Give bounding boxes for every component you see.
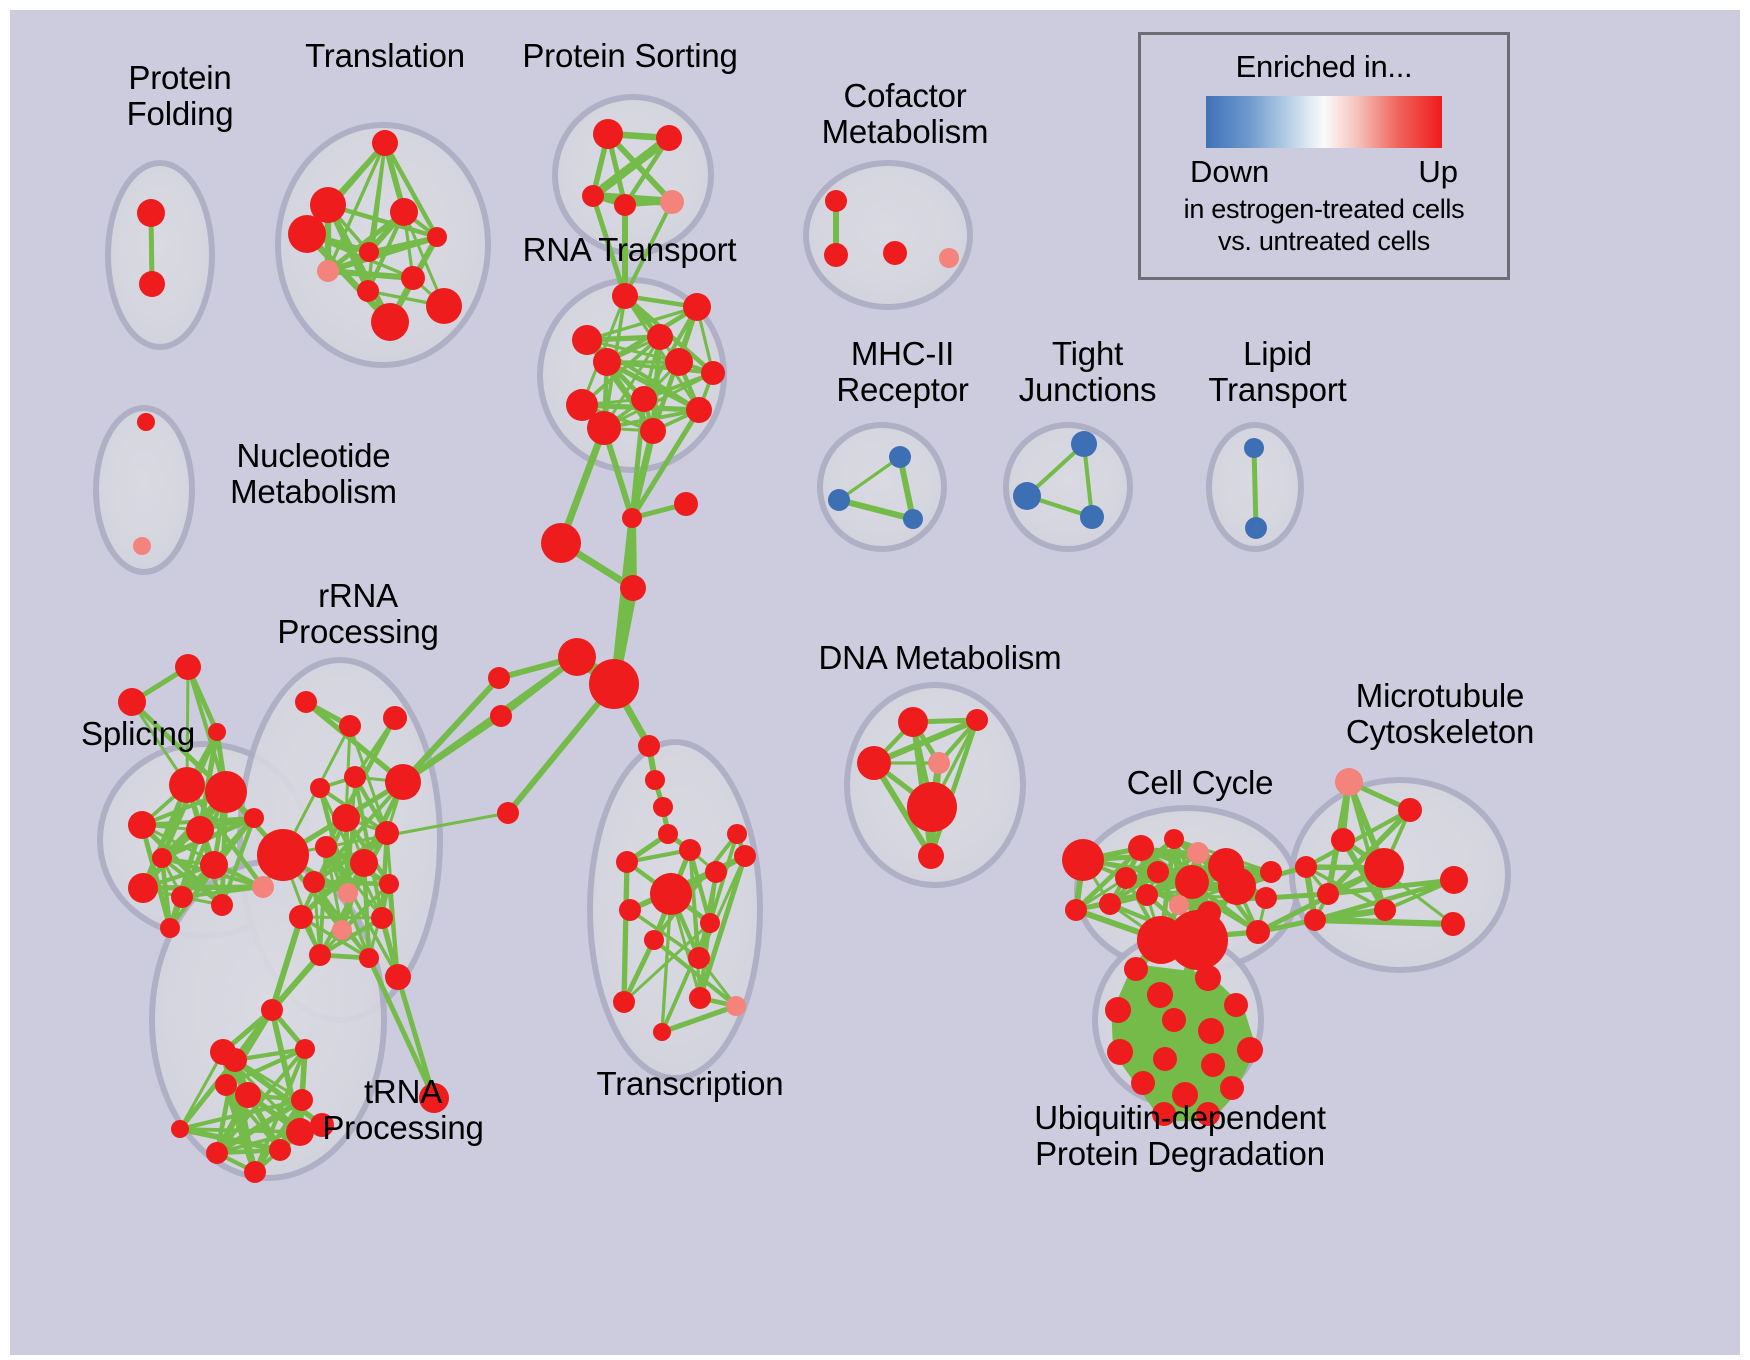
node-bridge[interactable] <box>674 492 698 516</box>
cluster-label-nucleotide-metabolism: Nucleotide Metabolism <box>206 438 421 509</box>
node-bridge[interactable] <box>558 638 596 676</box>
node-splicing[interactable] <box>128 873 158 903</box>
node-rrna-processing[interactable] <box>383 706 407 730</box>
node-bridge[interactable] <box>589 659 639 709</box>
node-translation[interactable] <box>401 266 425 290</box>
node-transcription[interactable] <box>644 930 664 950</box>
cluster-label-splicing: Splicing <box>58 716 218 752</box>
node-transcription[interactable] <box>734 845 756 867</box>
node-bridge[interactable] <box>490 705 512 727</box>
node-ubiquitin-protein-degradation[interactable] <box>1105 997 1131 1023</box>
node-protein-sorting[interactable] <box>660 190 684 214</box>
node-rrna-processing[interactable] <box>350 849 378 877</box>
node-trna-processing[interactable] <box>261 999 283 1021</box>
node-transcription[interactable] <box>619 899 641 921</box>
node-splicing[interactable] <box>160 918 180 938</box>
node-mhc-ii-receptor[interactable] <box>903 509 923 529</box>
node-microtubule-cytoskeleton[interactable] <box>1304 909 1326 931</box>
node-dna-metabolism[interactable] <box>907 782 957 832</box>
node-mhc-ii-receptor[interactable] <box>889 446 911 468</box>
node-rrna-processing[interactable] <box>332 920 352 940</box>
node-rrna-processing[interactable] <box>339 715 361 737</box>
node-ubiquitin-protein-degradation[interactable] <box>1162 1008 1186 1032</box>
cluster-ellipse-protein-folding[interactable] <box>108 163 212 347</box>
node-nucleotide-metabolism[interactable] <box>137 413 155 431</box>
node-splicing[interactable] <box>118 688 146 716</box>
node-tight-junctions[interactable] <box>1013 482 1041 510</box>
node-translation[interactable] <box>317 260 339 282</box>
node-bridge[interactable] <box>620 575 646 601</box>
node-microtubule-cytoskeleton[interactable] <box>1335 768 1363 796</box>
node-dna-metabolism[interactable] <box>857 746 891 780</box>
node-protein-sorting[interactable] <box>582 185 604 207</box>
node-transcription[interactable] <box>616 851 638 873</box>
node-trna-processing[interactable] <box>269 1139 291 1161</box>
node-rna-transport[interactable] <box>612 283 638 309</box>
node-splicing[interactable] <box>211 894 233 916</box>
node-rrna-processing[interactable] <box>344 766 366 788</box>
node-bridge[interactable] <box>497 802 519 824</box>
node-ubiquitin-protein-degradation[interactable] <box>1147 982 1173 1008</box>
node-bridge[interactable] <box>622 508 642 528</box>
node-cell-cycle[interactable] <box>1218 867 1256 905</box>
node-rrna-processing[interactable] <box>295 691 317 713</box>
node-microtubule-cytoskeleton[interactable] <box>1364 848 1404 888</box>
network-canvas: Protein FoldingTranslationProtein Sortin… <box>10 10 1740 1355</box>
node-microtubule-cytoskeleton[interactable] <box>1440 866 1468 894</box>
node-rna-transport[interactable] <box>686 397 712 423</box>
node-splicing[interactable] <box>200 851 228 879</box>
node-rrna-processing[interactable] <box>309 944 331 966</box>
node-rrna-processing[interactable] <box>359 948 379 968</box>
node-lipid-transport[interactable] <box>1245 517 1267 539</box>
node-mhc-ii-receptor[interactable] <box>828 489 850 511</box>
node-bridge[interactable] <box>658 824 678 844</box>
node-translation[interactable] <box>426 288 462 324</box>
node-ubiquitin-protein-degradation[interactable] <box>1107 1039 1133 1065</box>
node-cofactor-metabolism[interactable] <box>824 243 848 267</box>
node-cell-cycle[interactable] <box>1136 884 1158 906</box>
node-cell-cycle[interactable] <box>1175 865 1209 899</box>
node-ubiquitin-protein-degradation[interactable] <box>1124 957 1148 981</box>
node-rna-transport[interactable] <box>587 411 621 445</box>
edge-lipid-transport <box>1254 448 1256 528</box>
node-protein-sorting[interactable] <box>656 125 682 151</box>
node-splicing[interactable] <box>244 808 264 828</box>
cluster-ellipse-cofactor-metabolism[interactable] <box>806 163 970 307</box>
node-splicing[interactable] <box>171 886 193 908</box>
legend-high-label: Up <box>1418 154 1458 190</box>
node-rna-transport[interactable] <box>683 293 711 321</box>
node-transcription[interactable] <box>726 996 746 1016</box>
node-tight-junctions[interactable] <box>1080 505 1104 529</box>
node-microtubule-cytoskeleton[interactable] <box>1398 798 1422 822</box>
node-cofactor-metabolism[interactable] <box>825 190 847 212</box>
node-rrna-processing[interactable] <box>379 874 399 894</box>
node-cofactor-metabolism[interactable] <box>883 241 907 265</box>
node-rna-transport[interactable] <box>640 418 666 444</box>
node-rna-transport[interactable] <box>631 386 657 412</box>
node-microtubule-cytoskeleton[interactable] <box>1317 883 1339 905</box>
node-transcription[interactable] <box>689 987 711 1009</box>
node-ubiquitin-protein-degradation[interactable] <box>1198 1018 1224 1044</box>
node-rrna-processing[interactable] <box>385 764 421 800</box>
node-transcription[interactable] <box>688 947 710 969</box>
node-cell-cycle[interactable] <box>1164 829 1184 849</box>
node-protein-sorting[interactable] <box>614 194 636 216</box>
node-cell-cycle[interactable] <box>1137 916 1185 964</box>
node-cell-cycle[interactable] <box>1065 899 1087 921</box>
node-translation[interactable] <box>288 215 326 253</box>
node-tight-junctions[interactable] <box>1071 431 1097 457</box>
cluster-label-protein-folding: Protein Folding <box>85 60 275 131</box>
cluster-label-protein-sorting: Protein Sorting <box>500 38 760 74</box>
cluster-label-ubiquitin-protein-degradation: Ubiquitin-dependent Protein Degradation <box>985 1100 1375 1171</box>
edge-inter-25 <box>508 684 614 813</box>
node-microtubule-cytoskeleton[interactable] <box>1374 899 1396 921</box>
node-dna-metabolism[interactable] <box>928 752 950 774</box>
node-dna-metabolism[interactable] <box>918 843 944 869</box>
cluster-label-cofactor-metabolism: Cofactor Metabolism <box>800 78 1010 149</box>
node-transcription[interactable] <box>679 839 701 861</box>
node-trna-processing[interactable] <box>210 1039 236 1065</box>
node-splicing[interactable] <box>128 811 156 839</box>
node-transcription[interactable] <box>653 1023 671 1041</box>
node-bridge[interactable] <box>653 797 673 817</box>
node-cell-cycle[interactable] <box>1169 895 1189 915</box>
node-nucleotide-metabolism[interactable] <box>133 537 151 555</box>
node-transcription[interactable] <box>613 991 635 1013</box>
figure-stage: Protein FoldingTranslationProtein Sortin… <box>0 0 1750 1360</box>
cluster-label-cell-cycle: Cell Cycle <box>1105 765 1295 801</box>
cluster-label-mhc-ii-receptor: MHC-II Receptor <box>810 336 995 407</box>
node-cell-cycle[interactable] <box>1260 861 1282 883</box>
node-splicing[interactable] <box>175 654 201 680</box>
node-microtubule-cytoskeleton[interactable] <box>1295 856 1317 878</box>
node-trna-processing[interactable] <box>295 1039 315 1059</box>
node-protein-folding[interactable] <box>139 271 165 297</box>
legend-title: Enriched in... <box>1236 49 1413 85</box>
node-translation[interactable] <box>372 130 398 156</box>
cluster-label-rrna-processing: rRNA Processing <box>258 578 458 649</box>
node-translation[interactable] <box>390 198 418 226</box>
node-cell-cycle[interactable] <box>1128 835 1154 861</box>
node-splicing[interactable] <box>152 848 172 868</box>
node-trna-processing[interactable] <box>235 1082 261 1108</box>
node-rrna-processing[interactable] <box>289 905 313 929</box>
node-translation[interactable] <box>357 280 379 302</box>
node-transcription[interactable] <box>705 861 727 883</box>
node-rrna-processing[interactable] <box>310 778 330 798</box>
node-translation[interactable] <box>371 303 409 341</box>
node-rrna-processing[interactable] <box>385 964 411 990</box>
node-rna-transport[interactable] <box>572 325 602 355</box>
cluster-label-microtubule-cytoskeleton: Microtubule Cytoskeleton <box>1310 678 1570 749</box>
node-cell-cycle[interactable] <box>1062 839 1104 881</box>
node-cell-cycle[interactable] <box>1255 887 1277 909</box>
cluster-label-translation: Translation <box>285 38 485 74</box>
node-transcription[interactable] <box>700 913 720 933</box>
node-lipid-transport[interactable] <box>1244 438 1264 458</box>
legend-endpoints: Down Up <box>1190 154 1458 190</box>
legend-caption-line1: in estrogen-treated cells <box>1184 194 1465 225</box>
node-rna-transport[interactable] <box>701 361 725 385</box>
edge-transcription <box>624 862 627 1002</box>
node-dna-metabolism[interactable] <box>898 707 928 737</box>
legend-colorbar <box>1206 96 1442 148</box>
node-ubiquitin-protein-degradation[interactable] <box>1195 965 1221 991</box>
node-ubiquitin-protein-degradation[interactable] <box>1153 1047 1177 1071</box>
node-ubiquitin-protein-degradation[interactable] <box>1237 1037 1263 1063</box>
edge-rrna-processing <box>301 917 382 918</box>
node-cell-cycle[interactable] <box>1115 867 1137 889</box>
node-splicing[interactable] <box>252 876 274 898</box>
node-splicing[interactable] <box>205 771 247 813</box>
node-splicing[interactable] <box>186 816 214 844</box>
node-bridge[interactable] <box>638 735 660 757</box>
node-bridge[interactable] <box>645 770 665 790</box>
node-ubiquitin-protein-degradation[interactable] <box>1220 1076 1244 1100</box>
node-rna-transport[interactable] <box>647 324 673 350</box>
node-trna-processing[interactable] <box>215 1074 237 1096</box>
node-rrna-processing[interactable] <box>303 871 325 893</box>
node-protein-folding[interactable] <box>137 199 165 227</box>
node-splicing[interactable] <box>169 767 205 803</box>
node-ubiquitin-protein-degradation[interactable] <box>1131 1071 1155 1095</box>
node-rna-transport[interactable] <box>593 348 621 376</box>
node-rrna-processing[interactable] <box>315 836 337 858</box>
node-microtubule-cytoskeleton[interactable] <box>1441 912 1465 936</box>
node-cell-cycle[interactable] <box>1147 861 1169 883</box>
cluster-ellipse-mhc-ii-receptor[interactable] <box>820 425 944 549</box>
node-rrna-processing[interactable] <box>332 804 360 832</box>
node-rrna-processing[interactable] <box>371 907 393 929</box>
node-bridge[interactable] <box>488 667 510 689</box>
node-dna-metabolism[interactable] <box>966 709 988 731</box>
node-transcription[interactable] <box>727 824 747 844</box>
cluster-label-trna-processing: tRNA Processing <box>308 1074 498 1145</box>
node-cell-cycle[interactable] <box>1187 842 1209 864</box>
node-cofactor-metabolism[interactable] <box>939 248 959 268</box>
node-trna-processing[interactable] <box>244 1161 266 1183</box>
cluster-label-rna-transport: RNA Transport <box>502 232 757 268</box>
node-ubiquitin-protein-degradation[interactable] <box>1201 1053 1225 1077</box>
legend-caption-line2: vs. untreated cells <box>1218 226 1430 257</box>
node-microtubule-cytoskeleton[interactable] <box>1331 828 1355 852</box>
node-cell-cycle[interactable] <box>1246 920 1270 944</box>
cluster-label-transcription: Transcription <box>575 1066 805 1102</box>
node-protein-sorting[interactable] <box>593 119 623 149</box>
node-rrna-processing[interactable] <box>338 883 358 903</box>
node-rrna-processing[interactable] <box>257 829 309 881</box>
node-cell-cycle[interactable] <box>1099 893 1121 915</box>
node-trna-processing[interactable] <box>206 1142 228 1164</box>
legend-panel: Enriched in... Down Up in estrogen-treat… <box>1138 32 1510 280</box>
node-translation[interactable] <box>427 227 447 247</box>
node-trna-processing[interactable] <box>171 1120 189 1138</box>
node-bridge[interactable] <box>541 523 581 563</box>
cluster-label-dna-metabolism: DNA Metabolism <box>810 640 1070 676</box>
node-transcription[interactable] <box>650 873 692 915</box>
cluster-label-tight-junctions: Tight Junctions <box>1000 336 1175 407</box>
node-ubiquitin-protein-degradation[interactable] <box>1224 993 1248 1017</box>
node-rrna-processing[interactable] <box>375 821 399 845</box>
cluster-ellipse-protein-sorting[interactable] <box>555 97 711 253</box>
node-rna-transport[interactable] <box>665 348 693 376</box>
legend-low-label: Down <box>1190 154 1269 190</box>
cluster-label-lipid-transport: Lipid Transport <box>1185 336 1370 407</box>
node-translation[interactable] <box>359 242 379 262</box>
